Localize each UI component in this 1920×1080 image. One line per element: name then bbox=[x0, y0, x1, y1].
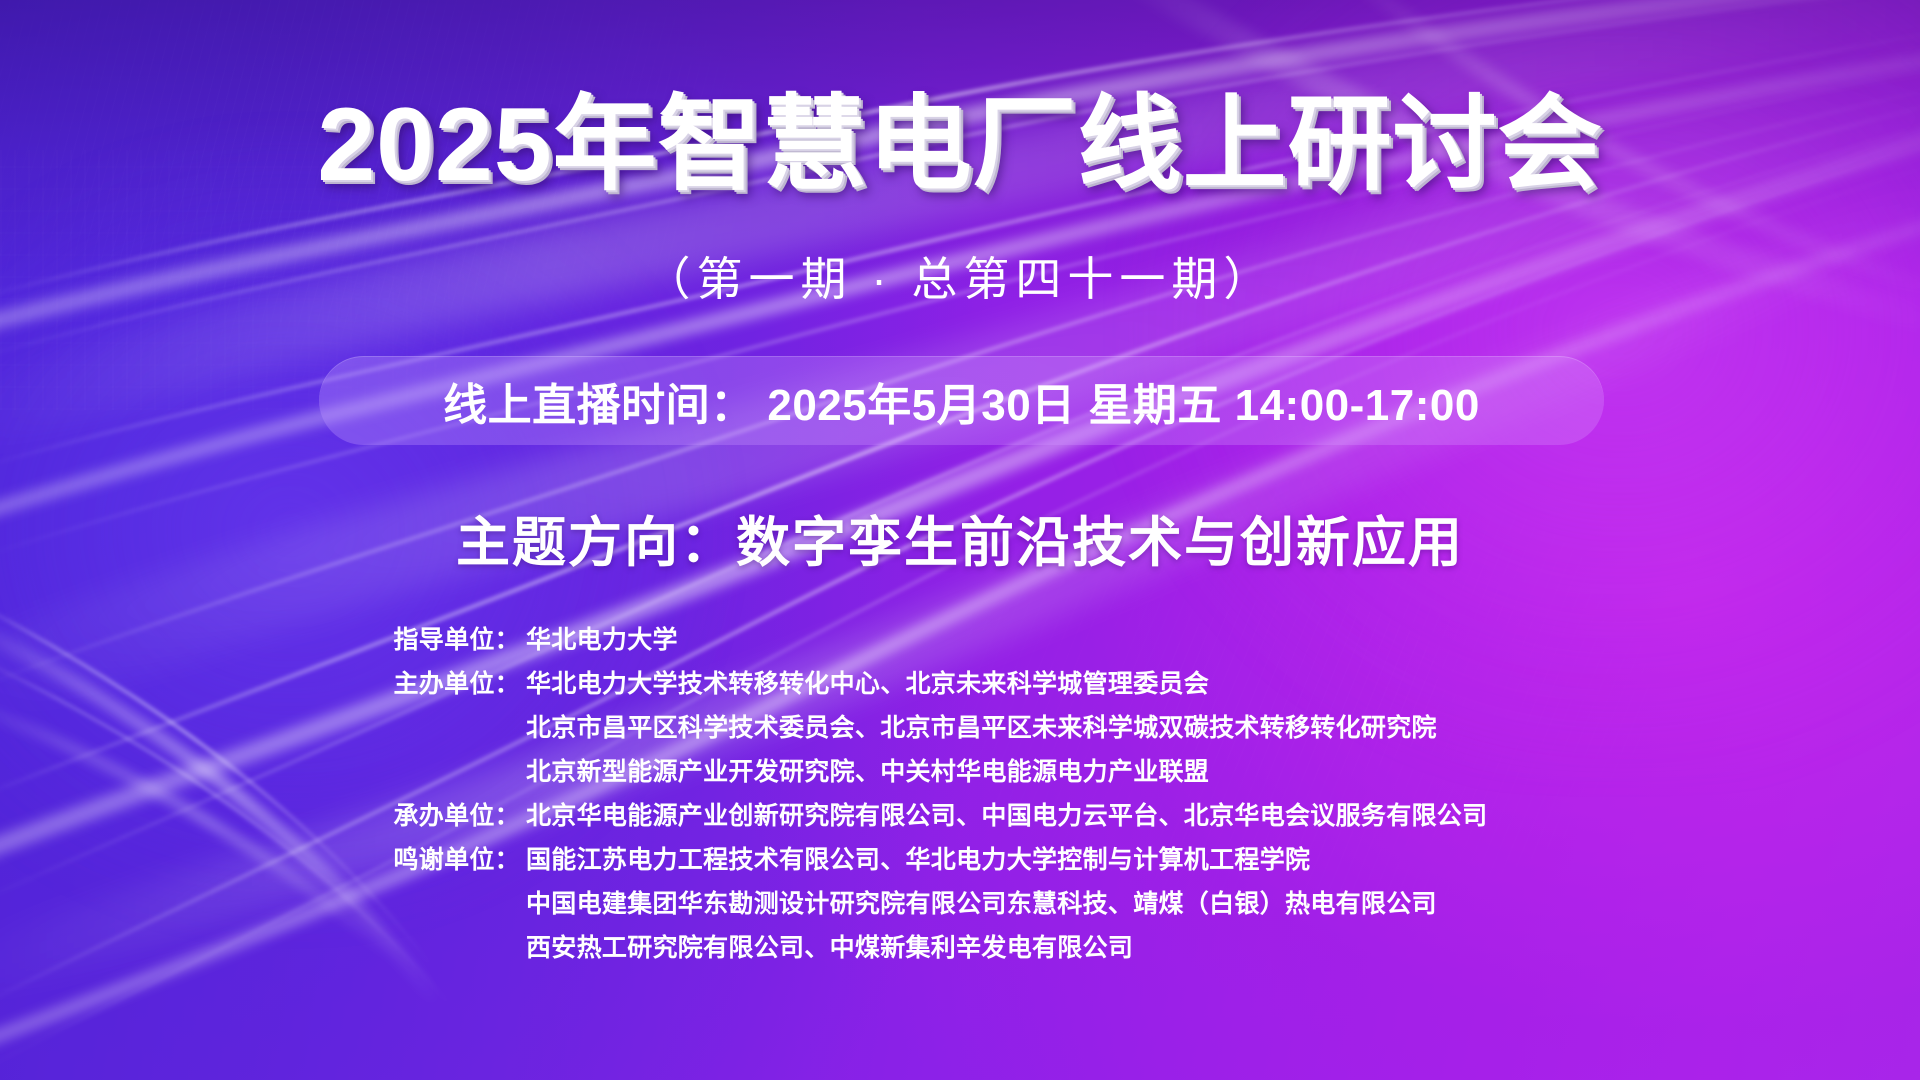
organization-row: 承办单位：北京华电能源产业创新研究院有限公司、中国电力云平台、北京华电会议服务有… bbox=[0, 794, 1920, 838]
organization-label: 承办单位： bbox=[0, 794, 526, 838]
organization-label: 鸣谢单位： bbox=[0, 838, 526, 882]
organization-row: 鸣谢单位：国能江苏电力工程技术有限公司、华北电力大学控制与计算机工程学院 bbox=[0, 838, 1920, 882]
organization-value: 北京华电能源产业创新研究院有限公司、中国电力云平台、北京华电会议服务有限公司 bbox=[526, 794, 1487, 838]
organization-row: 指导单位：华北电力大学 bbox=[0, 618, 1920, 662]
organization-value: 西安热工研究院有限公司、中煤新集利辛发电有限公司 bbox=[526, 926, 1133, 970]
organization-row: 北京新型能源产业开发研究院、中关村华电能源电力产业联盟 bbox=[0, 750, 1920, 794]
organization-row: 中国电建集团华东勘测设计研究院有限公司东慧科技、靖煤（白银）热电有限公司 bbox=[0, 882, 1920, 926]
poster-content: 2025年智慧电厂线上研讨会 （第一期 · 总第四十一期） 线上直播时间： 20… bbox=[0, 0, 1920, 1080]
organization-value: 北京新型能源产业开发研究院、中关村华电能源电力产业联盟 bbox=[526, 750, 1209, 794]
live-time-text: 线上直播时间： 2025年5月30日 星期五 14:00-17:00 bbox=[319, 356, 1604, 445]
organization-label: 主办单位： bbox=[0, 662, 526, 706]
organization-row: 主办单位：华北电力大学技术转移转化中心、北京未来科学城管理委员会 bbox=[0, 662, 1920, 706]
organization-value: 中国电建集团华东勘测设计研究院有限公司东慧科技、靖煤（白银）热电有限公司 bbox=[526, 882, 1437, 926]
organization-value: 国能江苏电力工程技术有限公司、华北电力大学控制与计算机工程学院 bbox=[526, 838, 1310, 882]
organization-value: 北京市昌平区科学技术委员会、北京市昌平区未来科学城双碳技术转移转化研究院 bbox=[526, 706, 1437, 750]
page-title: 2025年智慧电厂线上研讨会 bbox=[0, 88, 1920, 202]
organization-value: 华北电力大学技术转移转化中心、北京未来科学城管理委员会 bbox=[526, 662, 1209, 706]
webinar-poster: 2025年智慧电厂线上研讨会 （第一期 · 总第四十一期） 线上直播时间： 20… bbox=[0, 0, 1920, 1080]
organization-label: 指导单位： bbox=[0, 618, 526, 662]
theme-direction: 主题方向：数字孪生前沿技术与创新应用 bbox=[0, 498, 1920, 577]
organization-list: 指导单位：华北电力大学主办单位：华北电力大学技术转移转化中心、北京未来科学城管理… bbox=[0, 618, 1920, 970]
page-subtitle: （第一期 · 总第四十一期） bbox=[0, 243, 1920, 309]
organization-row: 西安热工研究院有限公司、中煤新集利辛发电有限公司 bbox=[0, 926, 1920, 970]
organization-value: 华北电力大学 bbox=[526, 618, 678, 662]
organization-row: 北京市昌平区科学技术委员会、北京市昌平区未来科学城双碳技术转移转化研究院 bbox=[0, 706, 1920, 750]
